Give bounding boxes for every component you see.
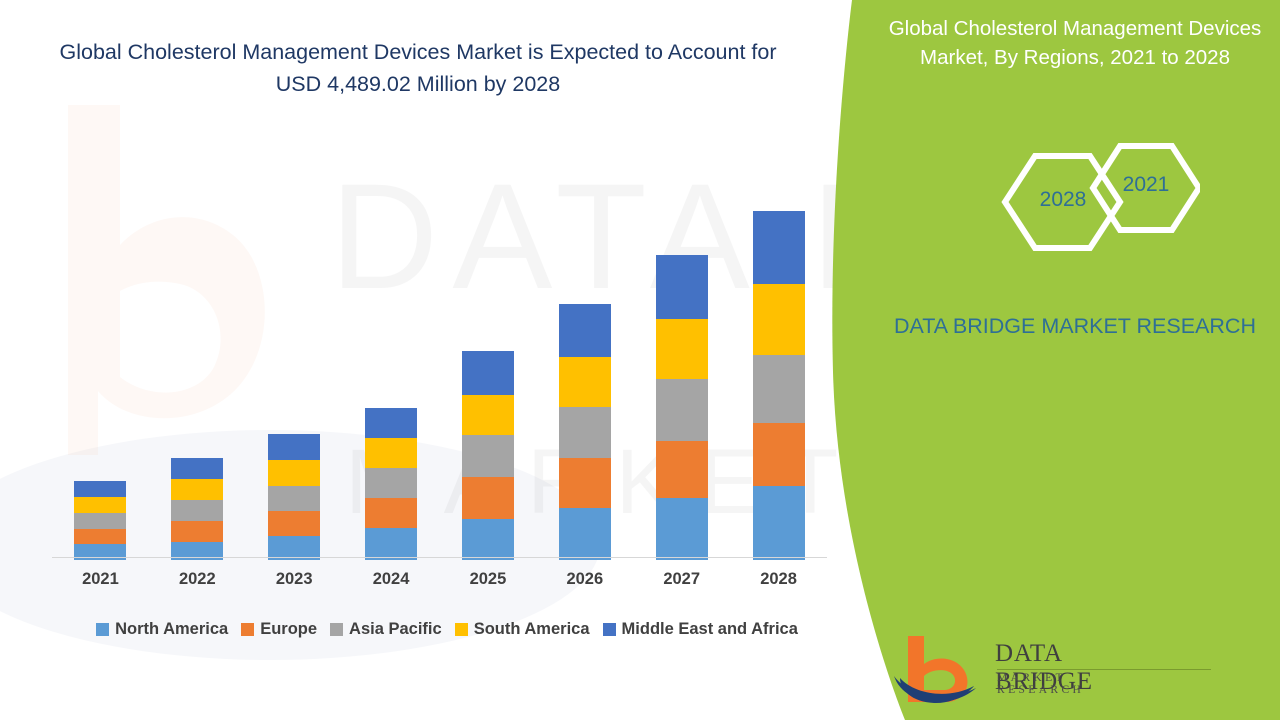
bar-segment-europe	[74, 529, 126, 544]
bar-segment-europe	[365, 498, 417, 528]
bar-segment-middle-east-and-africa	[268, 434, 320, 460]
chart-title: Global Cholesterol Management Devices Ma…	[48, 36, 788, 100]
legend-swatch-icon	[241, 623, 254, 636]
bar-segment-asia-pacific	[74, 513, 126, 529]
x-axis-label-2026: 2026	[550, 570, 620, 589]
bar-segment-europe	[753, 423, 805, 486]
bar-segment-middle-east-and-africa	[656, 255, 708, 319]
legend-swatch-icon	[455, 623, 468, 636]
legend-swatch-icon	[96, 623, 109, 636]
bar-2024	[365, 408, 417, 560]
bar-segment-south-america	[365, 438, 417, 468]
bar-segment-asia-pacific	[753, 355, 805, 423]
chart-legend: North AmericaEuropeAsia PacificSouth Ame…	[52, 616, 842, 642]
bar-segment-north-america	[656, 498, 708, 560]
bar-segment-europe	[559, 458, 611, 508]
bar-segment-south-america	[656, 319, 708, 379]
bar-segment-middle-east-and-africa	[559, 304, 611, 357]
bar-segment-asia-pacific	[559, 407, 611, 458]
x-axis-label-2028: 2028	[744, 570, 814, 589]
databridge-logo: DATA BRIDGE MARKET RESEARCH	[890, 632, 1130, 712]
bar-segment-south-america	[171, 479, 223, 500]
bar-segment-asia-pacific	[365, 468, 417, 498]
bar-segment-middle-east-and-africa	[365, 408, 417, 438]
bar-segment-asia-pacific	[268, 486, 320, 511]
bar-segment-south-america	[74, 497, 126, 513]
legend-item-south-america[interactable]: South America	[455, 620, 590, 639]
x-axis-label-2024: 2024	[356, 570, 426, 589]
brand-name: DATA BRIDGE MARKET RESEARCH	[880, 310, 1270, 342]
x-axis-label-2022: 2022	[162, 570, 232, 589]
bar-2021	[74, 481, 126, 560]
legend-swatch-icon	[603, 623, 616, 636]
bar-segment-asia-pacific	[462, 435, 514, 477]
logo-divider	[997, 669, 1211, 670]
bar-2025	[462, 351, 514, 560]
bar-segment-asia-pacific	[171, 500, 223, 521]
bar-segment-north-america	[462, 519, 514, 560]
bar-segment-asia-pacific	[656, 379, 708, 441]
x-axis-label-2027: 2027	[647, 570, 717, 589]
legend-label: South America	[474, 620, 590, 639]
bar-2023	[268, 434, 320, 560]
bar-segment-middle-east-and-africa	[74, 481, 126, 497]
bar-segment-north-america	[753, 486, 805, 560]
legend-label: Middle East and Africa	[622, 620, 798, 639]
bar-segment-south-america	[268, 460, 320, 486]
slide-canvas: DATA BRIDGE MARKET RESEARCH Global Chole…	[0, 0, 1280, 720]
legend-item-europe[interactable]: Europe	[241, 620, 317, 639]
x-axis-labels: 20212022202320242025202620272028	[52, 570, 827, 598]
legend-label: Europe	[260, 620, 317, 639]
legend-label: Asia Pacific	[349, 620, 442, 639]
bar-segment-north-america	[365, 528, 417, 560]
databridge-b-logo-icon	[890, 632, 990, 704]
bar-segment-europe	[268, 511, 320, 536]
panel-title: Global Cholesterol Management Devices Ma…	[880, 14, 1270, 72]
legend-item-north-america[interactable]: North America	[96, 620, 228, 639]
hex-label-2028: 2028	[1022, 188, 1104, 212]
legend-item-middle-east-and-africa[interactable]: Middle East and Africa	[603, 620, 798, 639]
chart-plot-area	[52, 150, 827, 560]
hexagon-badges: 2028 2021	[980, 140, 1200, 280]
x-axis-label-2025: 2025	[453, 570, 523, 589]
bar-segment-middle-east-and-africa	[753, 211, 805, 284]
x-axis-label-2023: 2023	[259, 570, 329, 589]
bar-segment-europe	[462, 477, 514, 519]
x-axis-line	[52, 557, 827, 558]
legend-label: North America	[115, 620, 228, 639]
bar-2026	[559, 304, 611, 560]
bar-segment-middle-east-and-africa	[171, 458, 223, 479]
bar-segment-north-america	[559, 508, 611, 560]
legend-item-asia-pacific[interactable]: Asia Pacific	[330, 620, 442, 639]
bar-segment-middle-east-and-africa	[462, 351, 514, 395]
bar-segment-europe	[656, 441, 708, 498]
bar-2027	[656, 255, 708, 560]
x-axis-label-2021: 2021	[65, 570, 135, 589]
bar-segment-south-america	[462, 395, 514, 435]
hex-label-2021: 2021	[1105, 173, 1187, 197]
bar-2022	[171, 458, 223, 560]
panel-content: Global Cholesterol Management Devices Ma…	[880, 0, 1280, 720]
bar-segment-europe	[171, 521, 223, 542]
bar-2028	[753, 211, 805, 560]
bar-segment-south-america	[753, 284, 805, 355]
logo-subtitle: MARKET RESEARCH	[997, 672, 1130, 696]
legend-swatch-icon	[330, 623, 343, 636]
bar-segment-south-america	[559, 357, 611, 407]
